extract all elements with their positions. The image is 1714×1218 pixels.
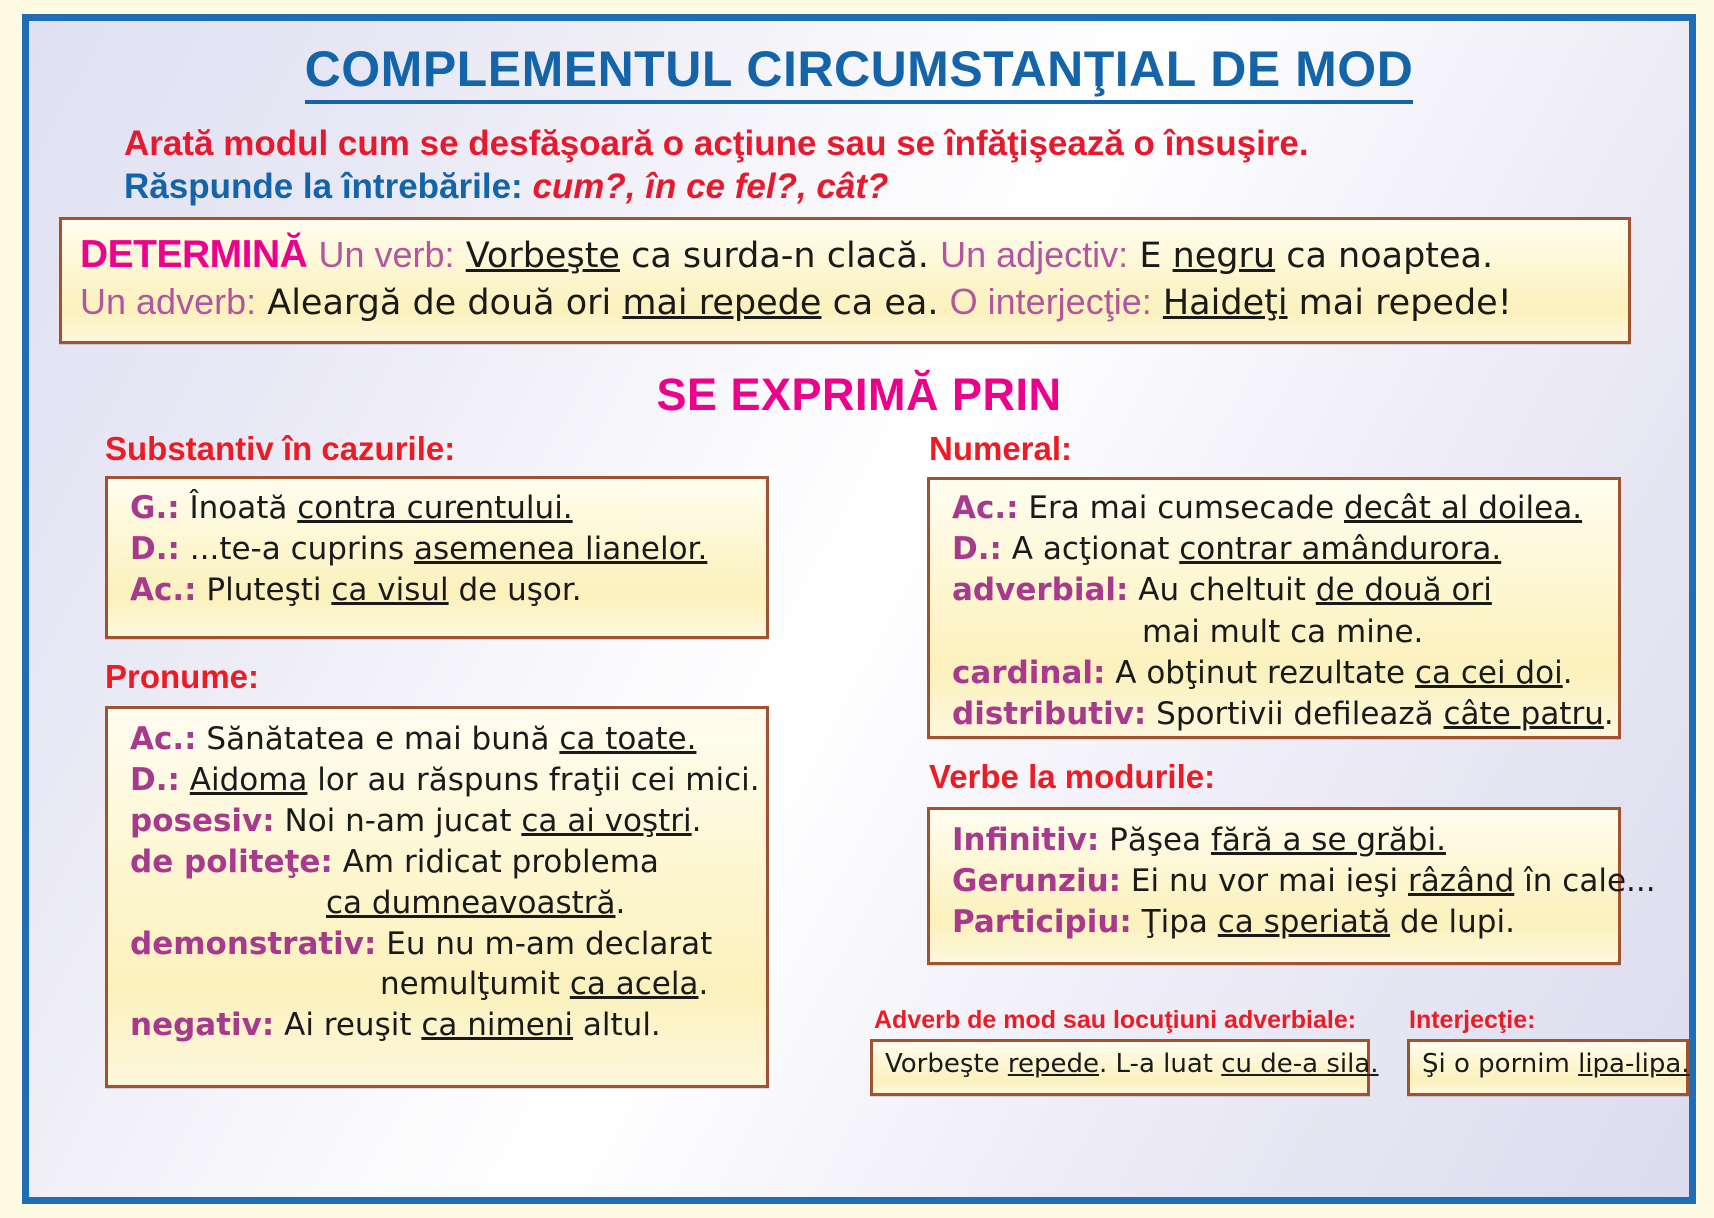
section-header-pronume: Pronume: bbox=[105, 658, 259, 696]
subtitle-line-1: Arată modul cum se desfăşoară o acţiune … bbox=[124, 122, 1689, 166]
section-header-interjectie: Interjecţie: bbox=[1409, 1006, 1535, 1035]
numeral-row-d: D.: A acţionat contrar amândurora. bbox=[952, 529, 1610, 570]
determina-example-adverb: Aleargă de două ori mai repede ca ea. bbox=[267, 283, 938, 323]
pronume-row-ac: Ac.: Sănătatea e mai bună ca toate. bbox=[130, 719, 756, 760]
pronume-box: Ac.: Sănătatea e mai bună ca toate. D.: … bbox=[105, 706, 769, 1088]
subtitle-line-2-questions: cum?, în ce fel?, cât? bbox=[532, 167, 888, 206]
page-title: COMPLEMENTUL CIRCUMSTANŢIAL DE MOD bbox=[29, 21, 1689, 104]
subtitle-line-2: Răspunde la întrebările: cum?, în ce fel… bbox=[124, 165, 1689, 209]
interjectie-example: Şi o pornim lipa-lipa. bbox=[1422, 1048, 1678, 1082]
substantiv-row-ac: Ac.: Pluteşti ca visul de uşor. bbox=[130, 570, 756, 611]
numeral-row-adverbial: adverbial: Au cheltuit de două ori bbox=[952, 570, 1610, 611]
numeral-box: Ac.: Era mai cumsecade decât al doilea. … bbox=[927, 477, 1621, 739]
determina-example-verb: Vorbeşte ca surda-n clacă. bbox=[466, 236, 929, 276]
poster-frame: COMPLEMENTUL CIRCUMSTANŢIAL DE MOD Arată… bbox=[22, 14, 1696, 1204]
determina-category-interjectie: O interjecţie: bbox=[950, 281, 1152, 322]
interjectie-box: Şi o pornim lipa-lipa. bbox=[1407, 1039, 1689, 1096]
pronume-row-demonstrativ: demonstrativ: Eu nu m-am declarat bbox=[130, 924, 756, 965]
numeral-row-cardinal: cardinal: A obţinut rezultate ca cei doi… bbox=[952, 653, 1610, 694]
pronume-row-politete: de politeţe: Am ridicat problema bbox=[130, 842, 756, 883]
adverb-example: Vorbeşte repede. L-a luat cu de-a sila. bbox=[885, 1048, 1359, 1082]
substantiv-row-d: D.: ...te-a cuprins asemenea lianelor. bbox=[130, 529, 756, 570]
section-header-adverb: Adverb de mod sau locuţiuni adverbiale: bbox=[874, 1006, 1356, 1035]
section-header-numeral: Numeral: bbox=[929, 430, 1072, 468]
subtitle-block: Arată modul cum se desfăşoară o acţiune … bbox=[29, 104, 1689, 210]
verbe-row-gerunziu: Gerunziu: Ei nu vor mai ieşi râzând în c… bbox=[952, 861, 1610, 902]
subtitle-line-2-prefix: Răspunde la întrebările: bbox=[124, 167, 523, 206]
substantiv-box: G.: Înoată contra curentului. D.: ...te-… bbox=[105, 476, 769, 639]
section-header-substantiv: Substantiv în cazurile: bbox=[105, 430, 455, 468]
determina-category-adverb: Un adverb: bbox=[80, 281, 256, 322]
poster-root: COMPLEMENTUL CIRCUMSTANŢIAL DE MOD Arată… bbox=[0, 0, 1714, 1218]
verbe-box: Infinitiv: Păşea fără a se grăbi. Gerunz… bbox=[927, 807, 1621, 965]
page-title-text: COMPLEMENTUL CIRCUMSTANŢIAL DE MOD bbox=[305, 43, 1414, 104]
pronume-row-negativ: negativ: Ai reuşit ca nimeni altul. bbox=[130, 1005, 756, 1046]
adverb-box: Vorbeşte repede. L-a luat cu de-a sila. bbox=[870, 1039, 1370, 1096]
determina-example-interjectie: Haideţi mai repede! bbox=[1163, 283, 1512, 323]
determina-example-adjectiv: E negru ca noaptea. bbox=[1139, 236, 1493, 276]
pronume-row-d: D.: Aidoma lor au răspuns fraţii cei mic… bbox=[130, 760, 756, 801]
verbe-row-participiu: Participiu: Ţipa ca speriată de lupi. bbox=[952, 902, 1610, 943]
section-header-verbe: Verbe la modurile: bbox=[929, 758, 1215, 796]
se-exprima-prin-heading: SE EXPRIMĂ PRIN bbox=[29, 369, 1689, 421]
determina-line-1: DETERMINĂ Un verb: Vorbeşte ca surda-n c… bbox=[80, 230, 1614, 279]
determina-line-2: Un adverb: Aleargă de două ori mai reped… bbox=[80, 279, 1614, 325]
numeral-row-distributiv: distributiv: Sportivii defilează câte pa… bbox=[952, 694, 1610, 735]
poster-inner: COMPLEMENTUL CIRCUMSTANŢIAL DE MOD Arată… bbox=[29, 21, 1689, 1197]
pronume-row-politete-cont: ca dumneavoastră. bbox=[130, 883, 756, 924]
substantiv-row-g: G.: Înoată contra curentului. bbox=[130, 488, 756, 529]
numeral-row-ac: Ac.: Era mai cumsecade decât al doilea. bbox=[952, 488, 1610, 529]
pronume-row-posesiv: posesiv: Noi n-am jucat ca ai voştri. bbox=[130, 801, 756, 842]
determina-box: DETERMINĂ Un verb: Vorbeşte ca surda-n c… bbox=[59, 217, 1631, 344]
pronume-row-demonstrativ-cont: nemulţumit ca acela. bbox=[130, 964, 756, 1005]
determina-keyword: DETERMINĂ bbox=[80, 233, 307, 276]
numeral-row-adverbial-cont: mai mult ca mine. bbox=[952, 612, 1610, 653]
determina-category-adjectiv: Un adjectiv: bbox=[940, 234, 1128, 275]
determina-category-verb: Un verb: bbox=[318, 234, 454, 275]
verbe-row-infinitiv: Infinitiv: Păşea fără a se grăbi. bbox=[952, 820, 1610, 861]
